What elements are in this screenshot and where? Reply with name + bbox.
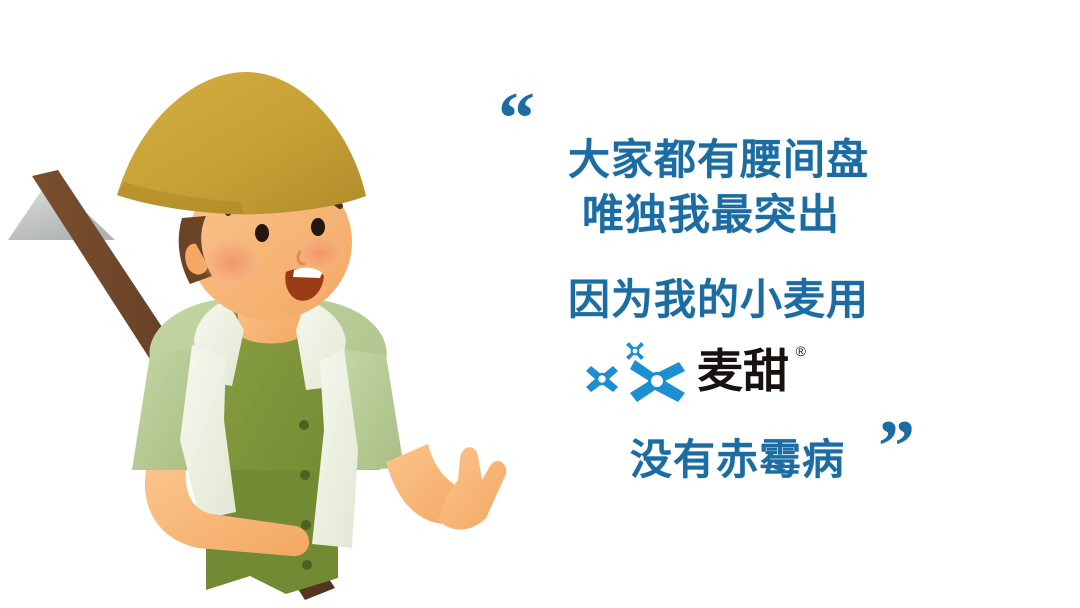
cheek-right — [294, 234, 346, 272]
brand-logo: 麦甜 ® — [585, 336, 835, 406]
four-pointed-star-cluster-icon — [585, 338, 693, 404]
vest-button — [300, 470, 310, 480]
headline-line-1: 大家都有腰间盘 — [568, 126, 869, 187]
boy-head — [117, 72, 366, 320]
headline-line-2: 唯独我最突出 — [582, 181, 840, 242]
cheek-left — [200, 237, 264, 287]
quote-open-icon: “ — [498, 82, 533, 156]
eye-left — [255, 224, 269, 242]
vest-button — [301, 520, 311, 530]
farmer-boy-illustration — [0, 0, 560, 608]
vest-button — [302, 560, 312, 570]
headline-line-4: 没有赤霉病 — [630, 426, 845, 487]
eye-right — [311, 218, 325, 236]
brand-wordmark-text: 麦甜 — [697, 345, 789, 397]
poster-canvas: “ 大家都有腰间盘 唯独我最突出 因为我的小麦用 — [0, 0, 1080, 608]
quote-copy-block: “ 大家都有腰间盘 唯独我最突出 因为我的小麦用 — [490, 80, 960, 510]
registered-trademark-icon: ® — [796, 344, 806, 358]
headline-line-3: 因为我的小麦用 — [568, 266, 869, 327]
quote-close-icon: ” — [878, 410, 913, 484]
brand-wordmark: 麦甜 ® — [697, 348, 789, 394]
vest-button — [299, 420, 309, 430]
